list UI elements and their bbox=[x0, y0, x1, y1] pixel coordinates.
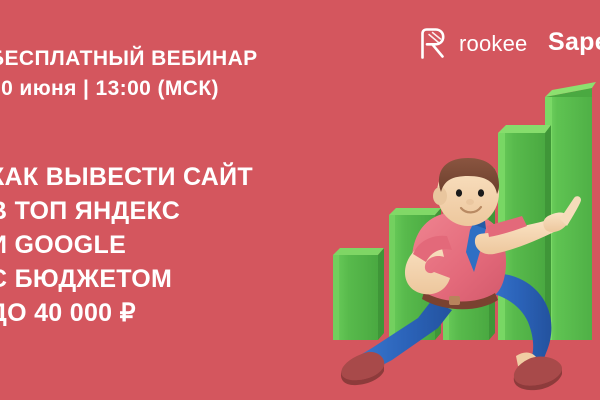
rookee-logo-text: rookee bbox=[459, 33, 527, 55]
headline-line-1: КАК ВЫВЕСТИ САЙТ bbox=[0, 160, 253, 194]
webinar-headline: КАК ВЫВЕСТИ САЙТ В ТОП ЯНДЕКС И GOOGLE С… bbox=[0, 160, 253, 330]
character-eye-right bbox=[478, 189, 484, 197]
chart-bar-1 bbox=[333, 248, 384, 340]
eyebrow-line-1: БЕСПЛАТНЫЙ ВЕБИНАР bbox=[0, 44, 258, 74]
webinar-eyebrow: БЕСПЛАТНЫЙ ВЕБИНАР 30 июня | 13:00 (МСК) bbox=[0, 44, 258, 104]
eyebrow-line-2: 30 июня | 13:00 (МСК) bbox=[0, 74, 258, 104]
headline-line-2: В ТОП ЯНДЕКС bbox=[0, 194, 253, 228]
rookee-r-mark-icon bbox=[418, 27, 448, 60]
headline-line-4: С БЮДЖЕТОМ bbox=[0, 262, 253, 296]
headline-line-5: ДО 40 000 ₽ bbox=[0, 296, 253, 330]
sape-partner-logo-text: Sape bbox=[548, 27, 600, 58]
webinar-promo-banner: rookee Sape БЕСПЛАТНЫЙ ВЕБИНАР 30 июня |… bbox=[0, 0, 600, 400]
character-eye-left bbox=[456, 189, 462, 197]
logo-row[interactable]: rookee bbox=[418, 27, 527, 60]
headline-line-3: И GOOGLE bbox=[0, 228, 253, 262]
